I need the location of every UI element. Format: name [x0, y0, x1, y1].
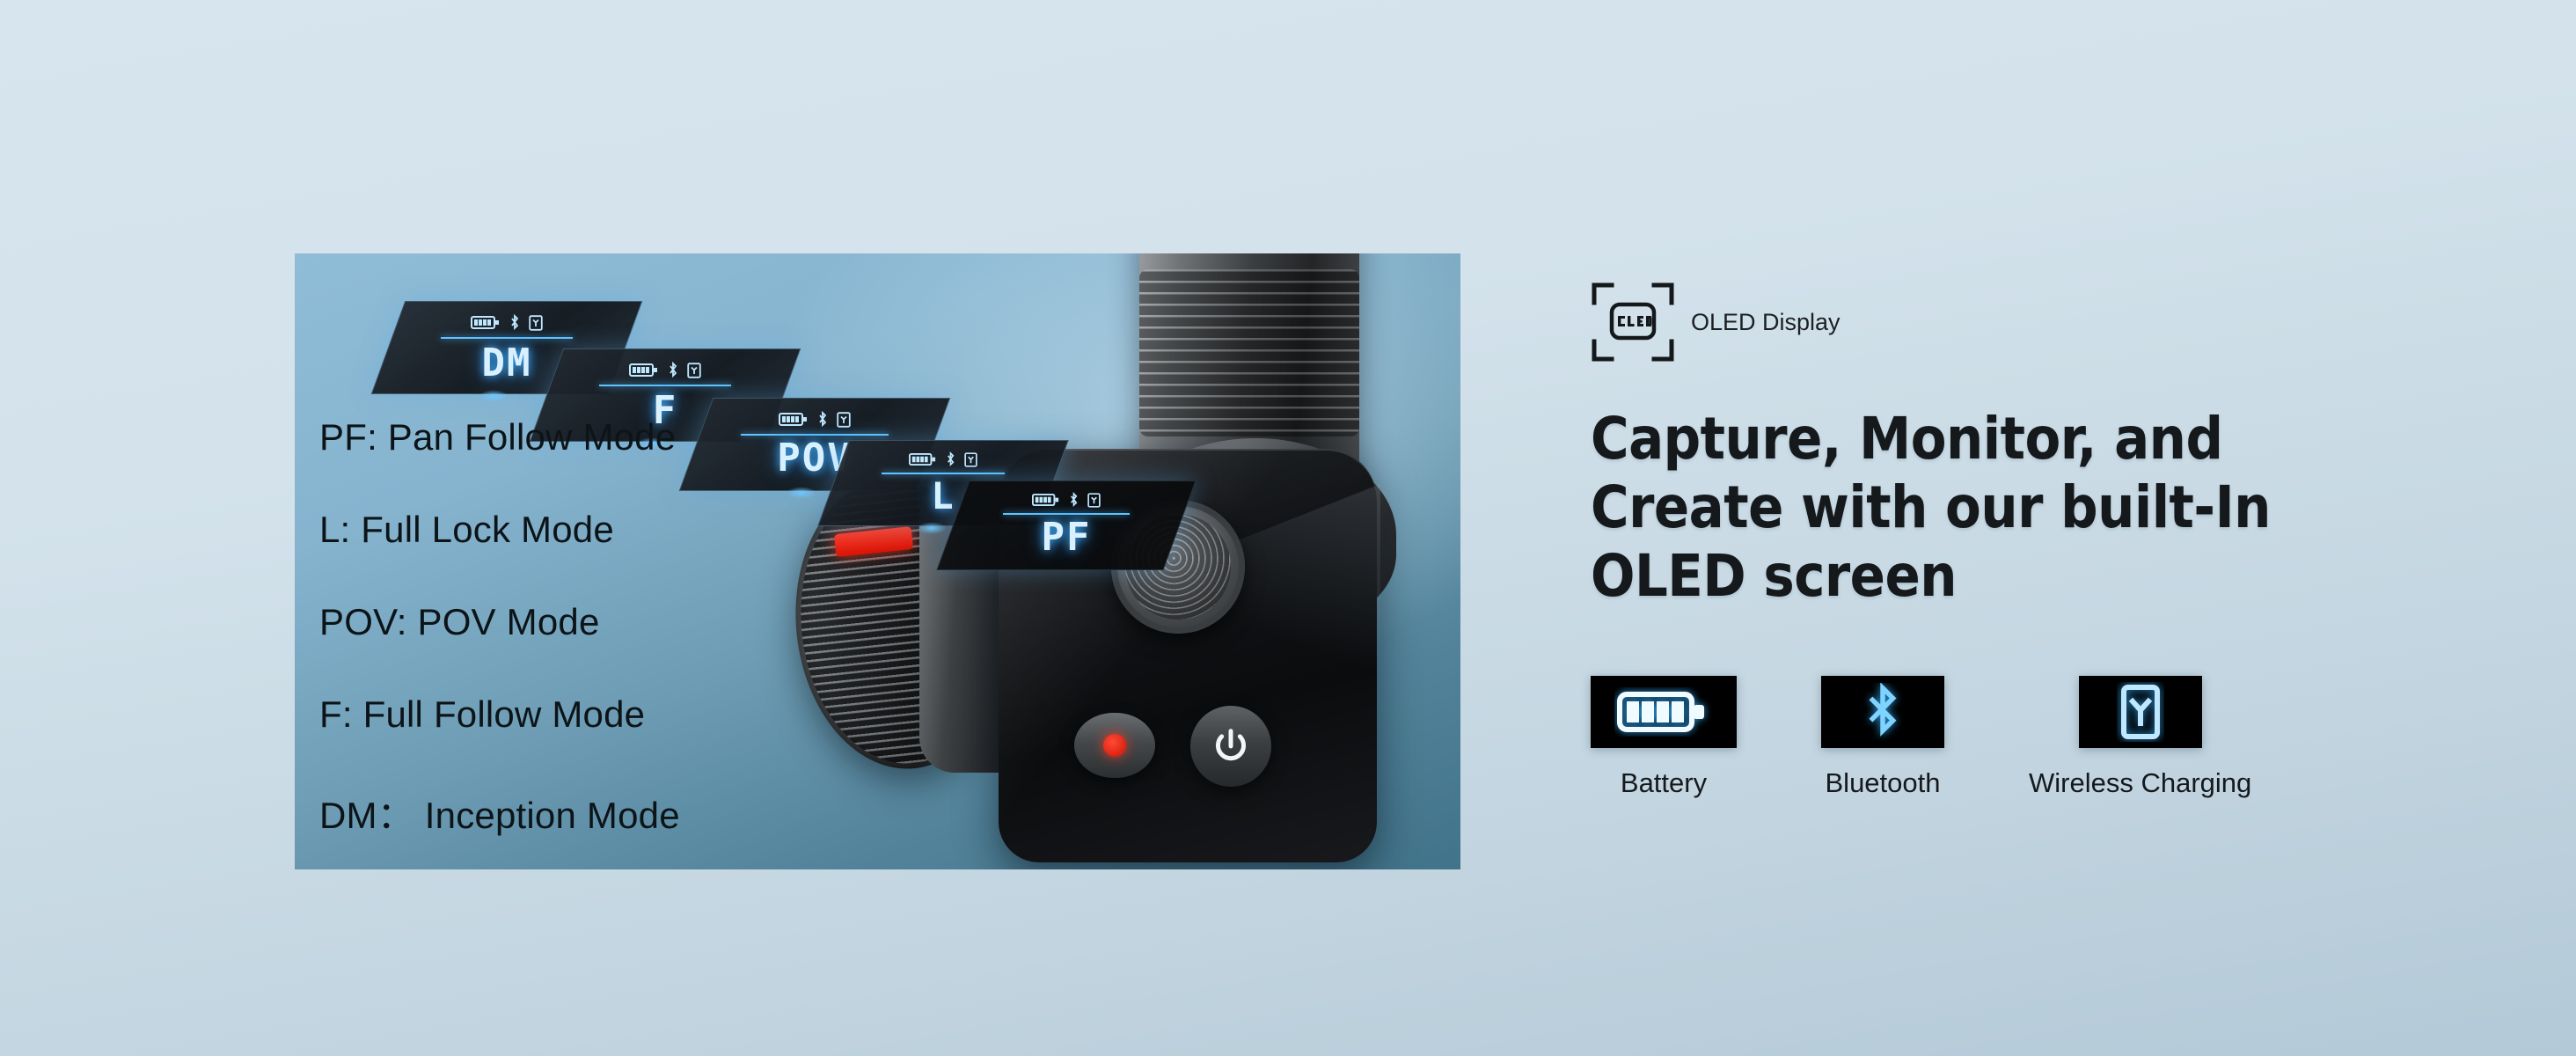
mode-legend-item: F: Full Follow Mode [319, 693, 865, 736]
oled-screen-icon [1591, 280, 1675, 364]
feature-bluetooth: Bluetooth [1821, 676, 1944, 799]
feature-icon-row: Battery Bluetooth [1591, 676, 2418, 799]
battery-icon [1032, 493, 1060, 507]
wireless-charging-icon [687, 363, 701, 378]
battery-icon [909, 452, 937, 466]
wireless-charging-icon [2117, 682, 2164, 742]
oled-status-row [471, 314, 543, 331]
power-icon [1211, 726, 1251, 766]
mode-legend-item: DM： Inception Mode [319, 786, 865, 840]
bluetooth-icon [945, 451, 956, 467]
oled-status-row [1032, 492, 1101, 508]
wireless-charging-tile [2079, 676, 2202, 748]
bluetooth-icon [509, 314, 521, 331]
power-button[interactable] [1190, 706, 1271, 787]
oled-mode-label: L [931, 478, 955, 515]
record-indicator-dot [1103, 734, 1126, 757]
bluetooth-tile [1821, 676, 1944, 748]
feature-wireless-charging: Wireless Charging [2029, 676, 2251, 799]
oled-mode-label: PF [1042, 518, 1092, 557]
oled-flare [479, 390, 509, 402]
page-root: DM [0, 0, 2576, 1056]
mode-legend-item: PF: Pan Follow Mode [319, 416, 865, 458]
oled-divider [441, 337, 573, 339]
oled-mode-label: DM [482, 344, 532, 383]
oled-status-row [909, 451, 977, 467]
feature-label: Battery [1621, 767, 1707, 799]
battery-tile [1591, 676, 1737, 748]
mode-legend-item: L: Full Lock Mode [319, 509, 865, 551]
feature-label: Wireless Charging [2029, 767, 2251, 799]
product-image-panel: DM [295, 253, 1460, 869]
battery-icon [471, 315, 501, 330]
oled-divider [599, 385, 731, 386]
oled-flare [917, 522, 947, 534]
mode-legend-list: PF: Pan Follow Mode L: Full Lock Mode PO… [319, 416, 865, 840]
bluetooth-icon [1068, 492, 1079, 508]
wireless-charging-icon [964, 452, 977, 467]
wireless-charging-icon [1087, 493, 1101, 508]
right-content-column: OLED Display Capture, Monitor, and Creat… [1591, 280, 2418, 799]
page-title: Capture, Monitor, and Create with our bu… [1591, 405, 2321, 611]
oled-status-row [629, 362, 701, 378]
battery-icon [1614, 687, 1713, 737]
record-button[interactable] [1074, 713, 1155, 778]
mode-legend-item: POV: POV Mode [319, 601, 865, 643]
oled-display-badge-label: OLED Display [1691, 309, 1841, 336]
feature-label: Bluetooth [1826, 767, 1941, 799]
motor-ribs [1139, 269, 1359, 436]
wireless-charging-icon [529, 315, 543, 331]
bluetooth-icon [1860, 683, 1906, 741]
feature-battery: Battery [1591, 676, 1737, 799]
bluetooth-icon [667, 362, 679, 378]
oled-card-pf: PF [936, 480, 1196, 570]
oled-display-badge: OLED Display [1591, 280, 2418, 364]
battery-icon [629, 363, 659, 378]
